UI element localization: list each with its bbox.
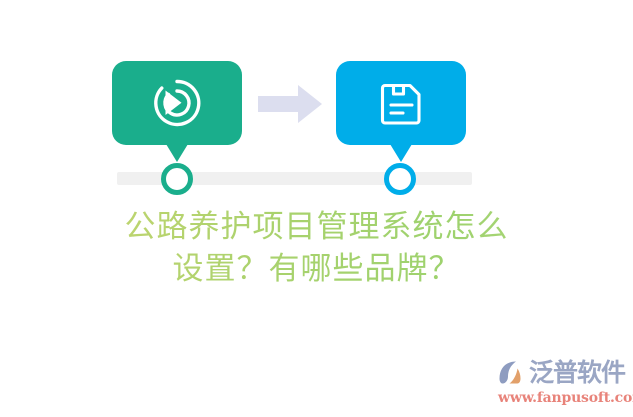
card-tail-2 [390,144,412,162]
page-title: 公路养护项目管理系统怎么 设置？有哪些品牌？ [0,206,633,290]
save-document-icon [374,76,428,130]
watermark-brand-name: 泛普软件 [529,358,625,388]
watermark: 泛普软件 www.fanpusoft.com [497,357,629,409]
card-tail-1 [166,144,188,162]
step-card-1[interactable] [112,61,242,145]
step-card-2[interactable] [336,61,466,145]
arrow-right-icon [258,84,322,124]
circular-play-icon [150,76,204,130]
timeline-node-2[interactable] [384,163,416,195]
watermark-brand-row: 泛普软件 [497,357,629,389]
watermark-url: www.fanpusoft.com [498,390,629,406]
fanpu-logo-icon [497,358,527,388]
poster-canvas: 公路养护项目管理系统怎么 设置？有哪些品牌？ 泛普软件 www.fanpusof… [0,0,633,417]
timeline-node-1[interactable] [161,163,193,195]
